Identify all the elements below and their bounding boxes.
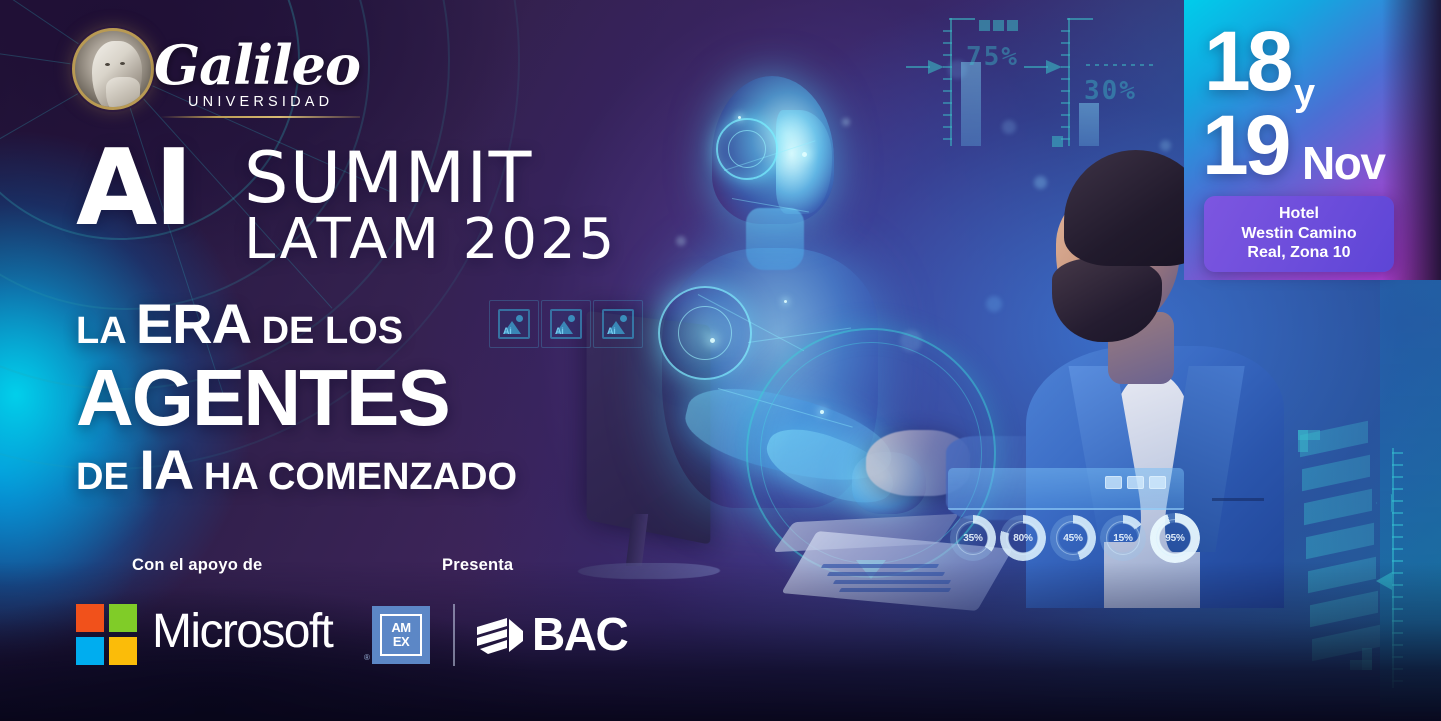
title-summit: SUMMIT — [244, 143, 533, 213]
brand-underline — [160, 116, 360, 118]
amex-logo-icon[interactable]: AM EX ® — [372, 606, 430, 664]
sponsor-divider — [453, 604, 455, 666]
tagline-ha-comenzado: HA COMENZADO — [204, 456, 517, 498]
microsoft-wordmark: Microsoft — [152, 608, 332, 656]
date-month: Nov — [1302, 140, 1384, 186]
amex-line-1: AM — [391, 622, 410, 634]
tagline-la: LA — [76, 310, 125, 352]
tagline-ia: IA — [139, 438, 193, 501]
ai-summit-banner: Ai Ai Ai — [0, 0, 1441, 721]
venue-line-3: Real, Zona 10 — [1212, 243, 1386, 263]
title-latam-year: LATAM 2025 — [244, 212, 617, 268]
bac-wordmark: BAC — [532, 611, 627, 657]
event-title: AI SUMMIT LATAM 2025 — [76, 136, 696, 266]
amex-line-2: EX — [393, 636, 409, 648]
tagline-era: ERA — [136, 292, 251, 355]
date-conjunction: y — [1294, 74, 1315, 112]
microsoft-logo-icon[interactable] — [76, 604, 138, 666]
tagline-agentes: AGENTES — [76, 358, 696, 438]
support-label: Con el apoyo de — [132, 556, 262, 575]
bac-logo-icon — [474, 616, 524, 656]
galileo-university-logo[interactable]: Galileo UNIVERSIDAD — [72, 28, 372, 124]
date-day-1: 18 — [1204, 26, 1289, 97]
presents-label: Presenta — [442, 556, 513, 575]
event-date-block: 18 y 19 Nov Hotel Westin Camino Real, Zo… — [1184, 0, 1441, 280]
date-day-2: 19 — [1202, 110, 1287, 181]
venue-line-2: Westin Camino — [1212, 224, 1386, 244]
title-ai: AI — [76, 136, 190, 241]
tagline-de-los: DE LOS — [262, 310, 403, 352]
brand-subtitle: UNIVERSIDAD — [188, 94, 333, 110]
event-tagline: LA ERA DE LOS AGENTES DE IA HA COMENZADO — [76, 296, 696, 498]
sponsors-section: Con el apoyo de Presenta Microsoft AM EX… — [76, 556, 636, 676]
tagline-de: DE — [76, 456, 129, 498]
venue-line-1: Hotel — [1212, 204, 1386, 224]
brand-name: Galileo — [154, 38, 360, 92]
venue-badge[interactable]: Hotel Westin Camino Real, Zona 10 — [1204, 196, 1394, 272]
amex-registered-mark: ® — [364, 653, 370, 662]
galileo-bust-icon — [72, 28, 154, 110]
